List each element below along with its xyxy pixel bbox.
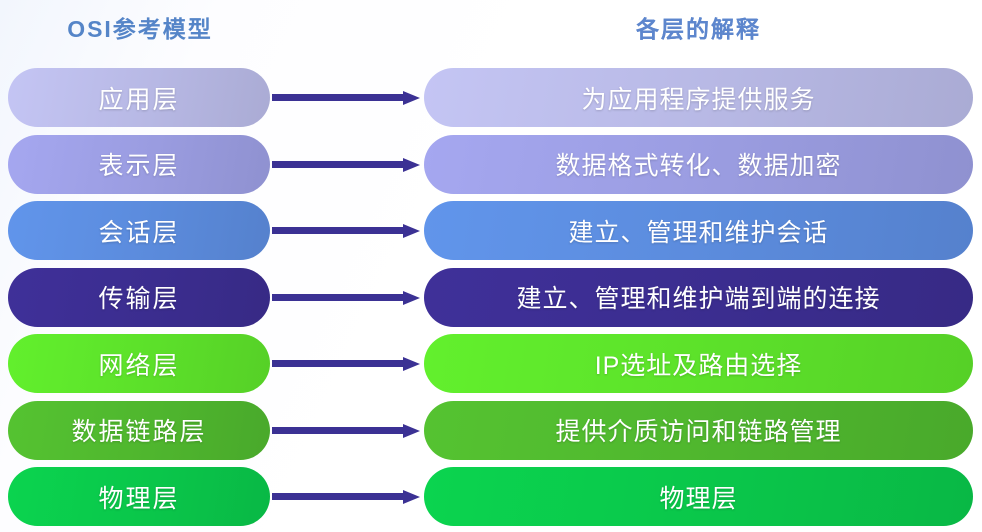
- right-column-title: 各层的解释: [424, 14, 973, 44]
- arrow-head: [403, 91, 420, 105]
- arrow-shaft: [272, 360, 405, 367]
- layer-row: 传输层建立、管理和维护端到端的连接: [0, 266, 982, 329]
- arrow-shaft: [272, 161, 405, 168]
- layer-row: 网络层IP选址及路由选择: [0, 332, 982, 395]
- layer-description-pill[interactable]: 物理层: [424, 467, 973, 526]
- layer-name-pill[interactable]: 应用层: [8, 68, 270, 127]
- arrow-head: [403, 490, 420, 504]
- right-arrow-icon: [272, 291, 420, 303]
- right-arrow-icon: [272, 224, 420, 236]
- left-column-title: OSI参考模型: [0, 14, 280, 44]
- layer-name-pill[interactable]: 网络层: [8, 334, 270, 393]
- layer-row: 数据链路层提供介质访问和链路管理: [0, 399, 982, 462]
- arrow-shaft: [272, 493, 405, 500]
- arrow-head: [403, 424, 420, 438]
- layer-row: 表示层数据格式转化、数据加密: [0, 133, 982, 196]
- arrow-shaft: [272, 427, 405, 434]
- arrow-head: [403, 224, 420, 238]
- layer-description-pill[interactable]: 数据格式转化、数据加密: [424, 135, 973, 194]
- layer-description-pill[interactable]: 建立、管理和维护会话: [424, 201, 973, 260]
- arrow-shaft: [272, 294, 405, 301]
- layer-description-pill[interactable]: 提供介质访问和链路管理: [424, 401, 973, 460]
- arrow-shaft: [272, 227, 405, 234]
- layer-description-pill[interactable]: 建立、管理和维护端到端的连接: [424, 268, 973, 327]
- right-arrow-icon: [272, 357, 420, 369]
- right-arrow-icon: [272, 91, 420, 103]
- right-arrow-icon: [272, 158, 420, 170]
- layer-row: 应用层为应用程序提供服务: [0, 66, 982, 129]
- layer-name-pill[interactable]: 会话层: [8, 201, 270, 260]
- arrow-head: [403, 357, 420, 371]
- right-arrow-icon: [272, 424, 420, 436]
- layer-row: 物理层物理层: [0, 465, 982, 528]
- layer-name-pill[interactable]: 数据链路层: [8, 401, 270, 460]
- osi-model-diagram: OSI参考模型 各层的解释 应用层为应用程序提供服务表示层数据格式转化、数据加密…: [0, 0, 982, 532]
- layer-description-pill[interactable]: IP选址及路由选择: [424, 334, 973, 393]
- layer-description-pill[interactable]: 为应用程序提供服务: [424, 68, 973, 127]
- right-arrow-icon: [272, 490, 420, 502]
- layer-name-pill[interactable]: 表示层: [8, 135, 270, 194]
- arrow-shaft: [272, 94, 405, 101]
- layer-name-pill[interactable]: 物理层: [8, 467, 270, 526]
- arrow-head: [403, 291, 420, 305]
- arrow-head: [403, 158, 420, 172]
- layer-row: 会话层建立、管理和维护会话: [0, 199, 982, 262]
- layer-name-pill[interactable]: 传输层: [8, 268, 270, 327]
